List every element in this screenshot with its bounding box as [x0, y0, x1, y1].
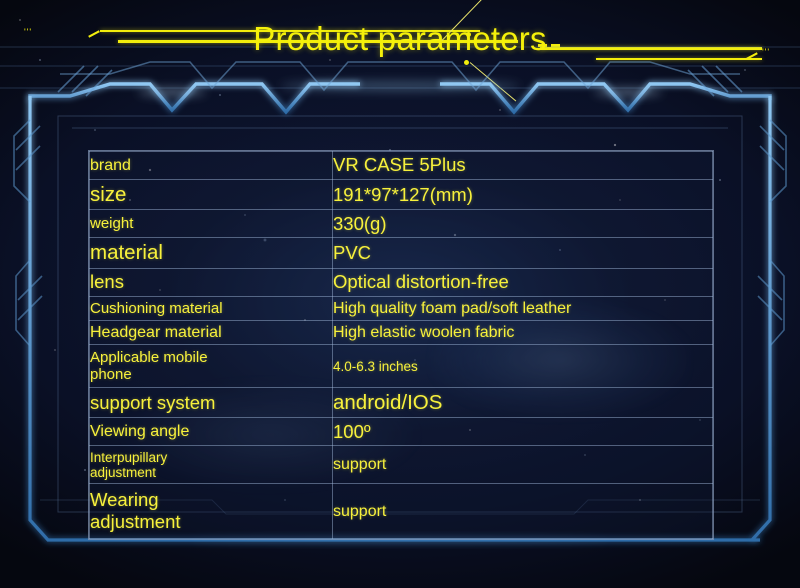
- table-row: size191*97*127(mm): [90, 179, 713, 209]
- spec-label-cell: support system: [90, 388, 333, 418]
- slide-header: ''' ''' Product parameters: [0, 0, 800, 118]
- spec-label: material: [90, 241, 332, 265]
- spec-value-cell: High elastic woolen fabric: [333, 321, 713, 345]
- spec-label: Interpupillary adjustment: [90, 450, 332, 480]
- slide-canvas: ''' ''' Product parameters brandVR CASE …: [0, 0, 800, 588]
- spec-label-cell: material: [90, 238, 333, 268]
- spec-label-cell: Wearing adjustment: [90, 484, 333, 539]
- spec-label: Applicable mobile phone: [90, 349, 332, 383]
- spec-label-cell: lens: [90, 268, 333, 296]
- table-row: brandVR CASE 5Plus: [90, 152, 713, 180]
- spec-value-cell: Optical distortion-free: [333, 268, 713, 296]
- spec-value-cell: 4.0-6.3 inches: [333, 345, 713, 388]
- spec-value: High quality foam pad/soft leather: [333, 299, 712, 318]
- spec-label-cell: brand: [90, 152, 333, 180]
- spec-value: Optical distortion-free: [333, 271, 712, 293]
- spec-value: PVC: [333, 242, 712, 264]
- spec-label: Cushioning material: [90, 300, 332, 317]
- spec-table-body: brandVR CASE 5Plussize191*97*127(mm)weig…: [90, 152, 713, 539]
- title-leader-line-2: [470, 62, 517, 101]
- spec-value: 330(g): [333, 213, 712, 235]
- spec-value-cell: android/IOS: [333, 388, 713, 418]
- spec-value: High elastic woolen fabric: [333, 323, 712, 342]
- spec-value-cell: support: [333, 446, 713, 484]
- page-title: Product parameters: [0, 19, 800, 59]
- product-parameters-table: brandVR CASE 5Plussize191*97*127(mm)weig…: [88, 150, 714, 540]
- title-accent-dot-2: [464, 60, 469, 65]
- spec-value-cell: VR CASE 5Plus: [333, 152, 713, 180]
- table-row: Viewing angle100º: [90, 418, 713, 446]
- table-row: materialPVC: [90, 238, 713, 268]
- spec-value: support: [333, 455, 712, 474]
- spec-value-cell: 100º: [333, 418, 713, 446]
- table-row: Applicable mobile phone4.0-6.3 inches: [90, 345, 713, 388]
- spec-value: android/IOS: [333, 391, 712, 415]
- table-row: Headgear materialHigh elastic woolen fab…: [90, 321, 713, 345]
- spec-label: Headgear material: [90, 323, 332, 342]
- table-row: Interpupillary adjustmentsupport: [90, 446, 713, 484]
- spec-label-cell: Viewing angle: [90, 418, 333, 446]
- spec-label: weight: [90, 215, 332, 232]
- spec-label: lens: [90, 271, 332, 293]
- spec-label: brand: [90, 156, 332, 175]
- spec-value-cell: PVC: [333, 238, 713, 268]
- table-row: weight330(g): [90, 210, 713, 238]
- spec-value: VR CASE 5Plus: [333, 154, 712, 176]
- spec-value-cell: 191*97*127(mm): [333, 179, 713, 209]
- spec-label-cell: Interpupillary adjustment: [90, 446, 333, 484]
- spec-value: 4.0-6.3 inches: [333, 359, 712, 374]
- table-row: Cushioning materialHigh quality foam pad…: [90, 296, 713, 320]
- table-row: Wearing adjustmentsupport: [90, 484, 713, 539]
- spec-value-cell: 330(g): [333, 210, 713, 238]
- spec-label-cell: Headgear material: [90, 321, 333, 345]
- spec-label-cell: Applicable mobile phone: [90, 345, 333, 388]
- spec-value: 191*97*127(mm): [333, 184, 712, 206]
- spec-label-cell: Cushioning material: [90, 296, 333, 320]
- spec-label: size: [90, 183, 332, 207]
- spec-value-cell: High quality foam pad/soft leather: [333, 296, 713, 320]
- spec-label: Wearing adjustment: [90, 489, 332, 533]
- table-row: lensOptical distortion-free: [90, 268, 713, 296]
- spec-label-cell: size: [90, 179, 333, 209]
- spec-value: 100º: [333, 421, 712, 443]
- spec-value-cell: support: [333, 484, 713, 539]
- spec-label: Viewing angle: [90, 422, 332, 441]
- spec-label: support system: [90, 392, 332, 414]
- spec-label-cell: weight: [90, 210, 333, 238]
- table-row: support systemandroid/IOS: [90, 388, 713, 418]
- spec-value: support: [333, 502, 712, 521]
